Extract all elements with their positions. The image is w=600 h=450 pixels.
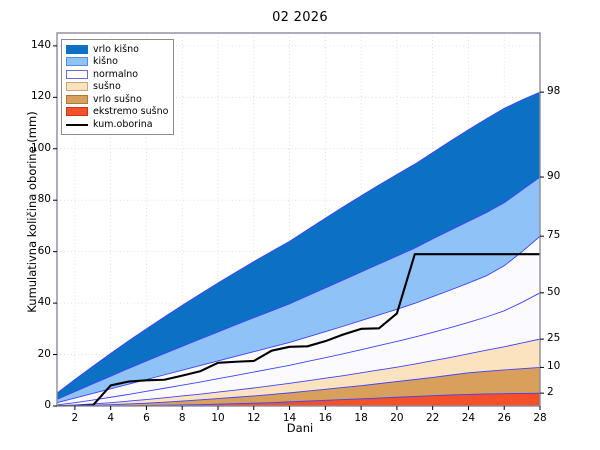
chart-legend[interactable]: vrlo kišnokišnonormalnosušnovrlo sušnoek…	[61, 39, 174, 135]
x-axis-tick-label: 6	[132, 412, 160, 424]
x-axis-tick-label: 26	[490, 412, 518, 424]
x-axis-tick-label: 4	[97, 412, 125, 424]
x-axis-tick-label: 22	[419, 412, 447, 424]
y-axis-tick-label: 20	[13, 348, 51, 360]
x-axis-tick-label: 10	[204, 412, 232, 424]
x-axis-tick-label: 8	[168, 412, 196, 424]
x-axis-tick-label: 18	[347, 412, 375, 424]
legend-item-sušno[interactable]: sušno	[66, 81, 169, 94]
legend-item-label: kum.oborina	[93, 120, 153, 130]
y2-axis-percentile-label: 10	[547, 360, 577, 372]
y2-axis-percentile-label: 2	[547, 386, 577, 398]
legend-color-swatch	[66, 57, 88, 66]
y-axis-tick-label: 140	[13, 39, 51, 51]
legend-item-label: sušno	[93, 82, 121, 92]
y-axis-tick-label: 100	[13, 142, 51, 154]
legend-item-label: normalno	[93, 70, 138, 80]
y2-axis-percentile-label: 75	[547, 229, 577, 241]
y2-axis-percentile-label: 98	[547, 85, 577, 97]
legend-item-ekstremo-sušno[interactable]: ekstremo sušno	[66, 106, 169, 119]
y2-axis-percentile-label: 90	[547, 170, 577, 182]
legend-item-kišno[interactable]: kišno	[66, 56, 169, 69]
legend-line-swatch	[66, 120, 88, 129]
legend-item-label: vrlo kišno	[93, 45, 139, 55]
y2-axis-percentile-label: 50	[547, 286, 577, 298]
legend-item-label: vrlo sušno	[93, 95, 142, 105]
x-axis-tick-label: 28	[526, 412, 554, 424]
precipitation-percentile-chart: 02 2026 BILOGORA Kumulativna količina ob…	[0, 0, 600, 450]
legend-color-swatch	[66, 45, 88, 54]
y2-axis-percentile-label: 25	[547, 332, 577, 344]
y-axis-tick-label: 0	[13, 399, 51, 411]
legend-color-swatch	[66, 107, 88, 116]
x-axis-tick-label: 24	[454, 412, 482, 424]
legend-item-normalno[interactable]: normalno	[66, 68, 169, 81]
x-axis-tick-label: 12	[240, 412, 268, 424]
y-axis-tick-label: 60	[13, 245, 51, 257]
legend-color-swatch	[66, 82, 88, 91]
legend-color-swatch	[66, 95, 88, 104]
legend-item-vrlo-kišno[interactable]: vrlo kišno	[66, 43, 169, 56]
x-axis-tick-label: 2	[61, 412, 89, 424]
legend-item-label: kišno	[93, 57, 118, 67]
legend-item-label: ekstremo sušno	[93, 107, 168, 117]
legend-item-vrlo-sušno[interactable]: vrlo sušno	[66, 93, 169, 106]
legend-item-kum-oborina[interactable]: kum.oborina	[66, 118, 169, 131]
x-axis-tick-label: 20	[383, 412, 411, 424]
y-axis-tick-label: 120	[13, 90, 51, 102]
x-axis-tick-label: 14	[276, 412, 304, 424]
y-axis-tick-label: 80	[13, 193, 51, 205]
y-axis-tick-label: 40	[13, 296, 51, 308]
x-axis-tick-label: 16	[311, 412, 339, 424]
legend-color-swatch	[66, 70, 88, 79]
